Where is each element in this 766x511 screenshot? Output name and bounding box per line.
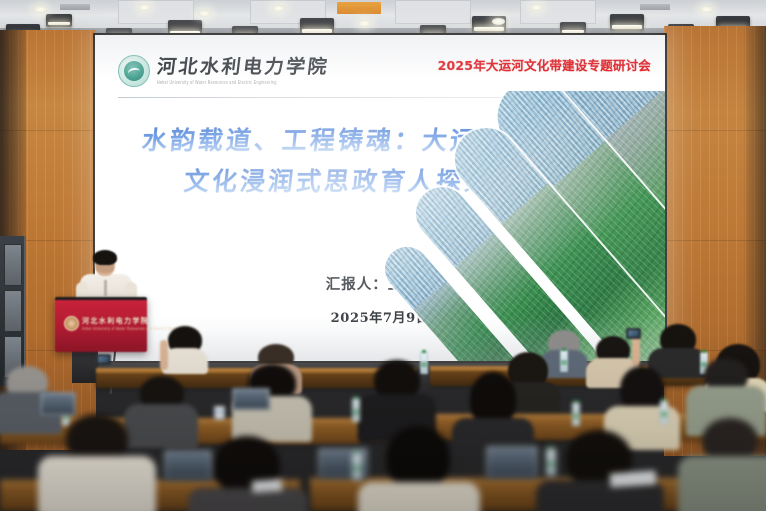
speaker-hair xyxy=(93,250,117,265)
water-bottle xyxy=(546,448,556,476)
paper-cup xyxy=(214,406,225,420)
ceiling-downlight xyxy=(198,10,211,17)
university-emblem-icon xyxy=(118,55,150,87)
ceiling-panel xyxy=(520,0,596,24)
water-bottle xyxy=(352,398,360,422)
ceiling-sign xyxy=(337,2,381,14)
speaker-lanyard xyxy=(104,280,107,296)
ceiling-downlight xyxy=(492,18,505,25)
podium-emblem-icon xyxy=(64,316,79,331)
audience-phone xyxy=(96,354,111,365)
water-bottle xyxy=(352,452,362,480)
logo-chinese-name: 河北水利电力学院 xyxy=(156,58,330,77)
conference-hall-photo: 河北水利电力学院 Hebei University of Water Resou… xyxy=(0,0,766,511)
water-bottle xyxy=(572,402,580,426)
slide-institution-logo: 河北水利电力学院 Hebei University of Water Resou… xyxy=(118,55,329,87)
ceiling-vent xyxy=(60,4,90,10)
ceiling-panel xyxy=(395,0,471,24)
audience-laptop xyxy=(40,392,76,416)
slide-event-banner: 2025年大运河文化带建设专题研讨会 xyxy=(438,55,651,74)
water-bottle xyxy=(660,400,668,424)
water-bottle xyxy=(420,352,428,374)
audience xyxy=(0,330,766,511)
podium-chinese-name: 河北水利电力学院 xyxy=(82,316,149,326)
stage-spotlight xyxy=(46,14,72,27)
water-bottle xyxy=(560,350,568,372)
audience-laptop xyxy=(486,446,538,478)
audience-phone xyxy=(626,328,641,339)
audience-paper xyxy=(252,479,283,493)
ceiling-downlight xyxy=(530,4,543,11)
stage-spotlight xyxy=(610,14,644,31)
ceiling-vent xyxy=(640,4,670,10)
audience-laptop xyxy=(164,450,212,480)
audience-raised-arm xyxy=(160,340,168,370)
projection-screen: 河北水利电力学院 Hebei University of Water Resou… xyxy=(95,35,665,361)
logo-english-name: Hebei University of Water Resources and … xyxy=(157,81,329,86)
ceiling-downlight xyxy=(358,20,371,27)
slide-decoration-ribbons xyxy=(353,91,665,361)
ceiling-downlight xyxy=(138,4,151,11)
ceiling-downlight xyxy=(700,6,713,13)
ceiling-downlight xyxy=(34,6,47,13)
audience-laptop xyxy=(232,388,270,410)
ceiling-downlight xyxy=(272,5,285,12)
